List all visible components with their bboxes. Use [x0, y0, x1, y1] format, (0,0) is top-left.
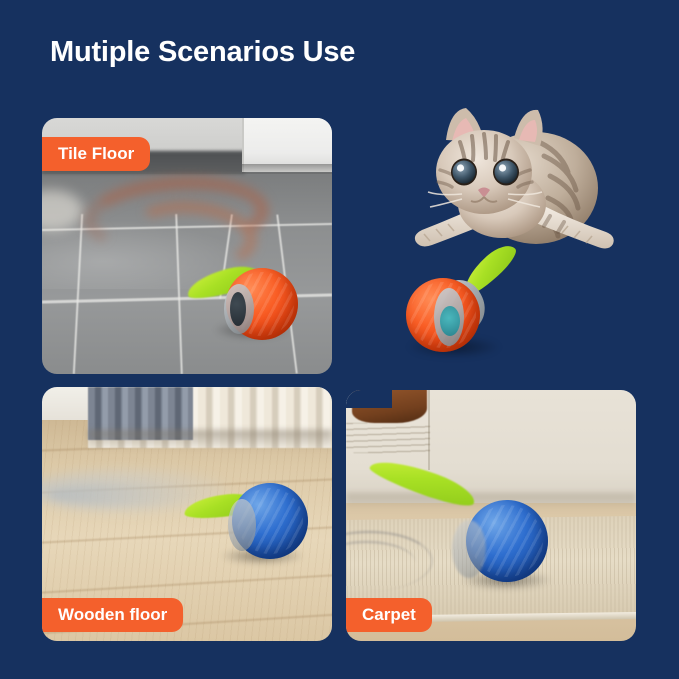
- scene-card-tile-floor[interactable]: Tile Floor: [42, 118, 332, 374]
- hero-cat-ball-toy: [404, 262, 524, 367]
- motion-blur-trail: [48, 484, 199, 507]
- ball-ring: [228, 499, 256, 551]
- scene-badge-wooden-floor[interactable]: Wooden floor: [42, 598, 183, 632]
- scene-badge-tile-floor[interactable]: Tile Floor: [42, 137, 150, 171]
- ball-ring-inner: [230, 292, 246, 326]
- furniture-lines: [346, 423, 430, 453]
- ball-ring: [452, 520, 486, 578]
- curtain-shadow: [88, 430, 332, 450]
- cat-ball-toy: [438, 498, 558, 590]
- scene-card-carpet[interactable]: Carpet: [346, 390, 636, 641]
- cat-ball-toy: [190, 479, 310, 565]
- photo-corner-shadow: [346, 390, 392, 408]
- ball-teal-accent: [440, 306, 460, 336]
- product-feature-banner: Mutiple Scenarios Use: [0, 0, 679, 679]
- scene-card-wooden-floor[interactable]: Wooden floor: [42, 387, 332, 641]
- cabinet-shadow: [242, 164, 332, 174]
- page-title: Mutiple Scenarios Use: [50, 36, 355, 69]
- scene-badge-carpet[interactable]: Carpet: [346, 598, 432, 632]
- cat-ball-toy: [190, 258, 300, 338]
